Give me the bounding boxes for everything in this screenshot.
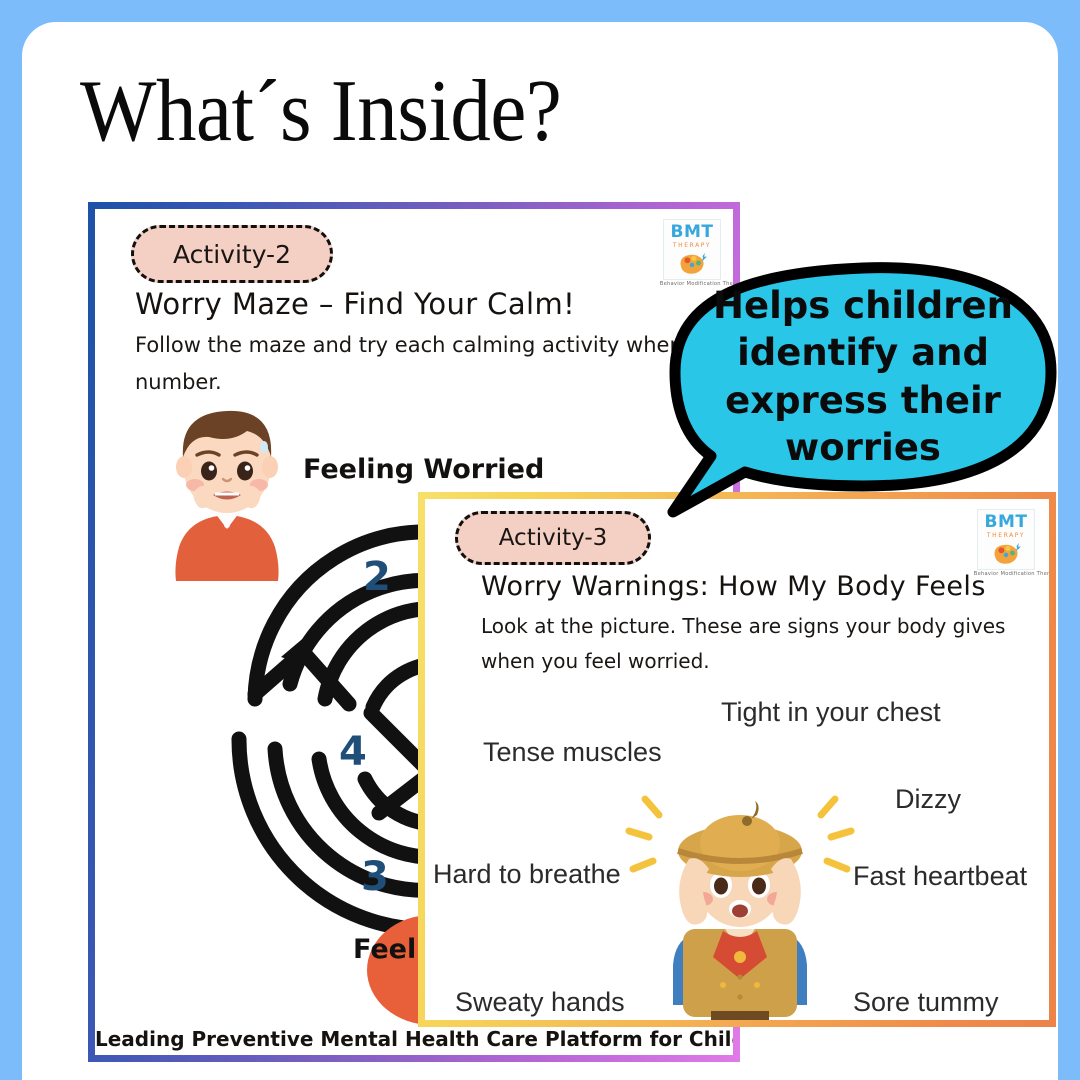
feeling-worried-label: Feeling Worried xyxy=(303,454,544,485)
body-signal-label: Fast heartbeat xyxy=(853,861,1027,892)
poster-white-card: What´s Inside? Activity-2 BMT THERAPY xyxy=(22,22,1058,1080)
activity-3-instructions: Look at the picture. These are signs you… xyxy=(481,609,1026,679)
body-signal-label: Hard to breathe xyxy=(433,859,621,890)
activity-3-badge: Activity-3 xyxy=(455,511,651,565)
logo-sub-text: THERAPY xyxy=(666,241,718,251)
maze-number-3: 3 xyxy=(361,854,389,900)
activity-2-title: Worry Maze – Find Your Calm! xyxy=(135,287,575,321)
activity-3-worksheet[interactable]: Activity-3 BMT THERAPY xyxy=(418,492,1056,1027)
activity-3-content: Activity-3 BMT THERAPY xyxy=(425,499,1049,1020)
maze-number-2: 2 xyxy=(363,554,391,600)
activity-2-badge: Activity-2 xyxy=(131,225,333,283)
callout-speech-bubble: Helps children identify and express thei… xyxy=(667,260,1058,518)
body-signal-label: Sweaty hands xyxy=(455,987,625,1018)
logo-brand-text: BMT xyxy=(666,224,718,241)
callout-text: Helps children identify and express thei… xyxy=(695,282,1031,471)
logo-sub-text: THERAPY xyxy=(980,531,1032,541)
bmt-logo: BMT THERAPY Behavior Modification Therap… xyxy=(977,509,1035,570)
poster-root: What´s Inside? Activity-2 BMT THERAPY xyxy=(0,0,1080,1080)
body-signal-label: Tense muscles xyxy=(483,737,662,768)
body-signal-label: Sore tummy xyxy=(853,987,999,1018)
page-title: What´s Inside? xyxy=(80,68,561,156)
worksheet-footer: Leading Preventive Mental Health Care Pl… xyxy=(95,1027,733,1051)
body-signal-label: Tight in your chest xyxy=(721,697,941,728)
body-signal-label: Dizzy xyxy=(895,784,961,815)
brain-head-icon xyxy=(980,541,1032,567)
activity-3-title: Worry Warnings: How My Body Feels xyxy=(481,571,986,602)
maze-number-4: 4 xyxy=(339,729,367,775)
worried-scout-illustration xyxy=(625,789,855,1020)
